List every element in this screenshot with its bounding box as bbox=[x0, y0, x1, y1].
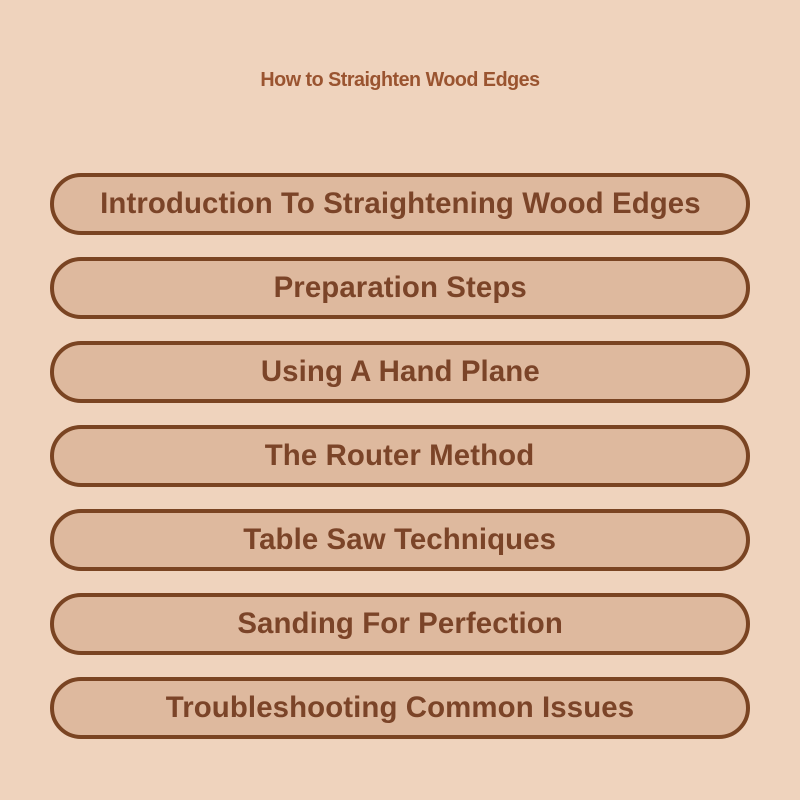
topic-pill-introduction-to-straightening-wood-edges[interactable]: Introduction To Straightening Wood Edges bbox=[50, 173, 750, 235]
topic-pill-label: Preparation Steps bbox=[273, 271, 526, 305]
topic-pill-label: Troubleshooting Common Issues bbox=[166, 691, 634, 725]
topic-pill-label: Introduction To Straightening Wood Edges bbox=[100, 187, 701, 221]
page-title: How to Straighten Wood Edges bbox=[6, 49, 794, 111]
topic-pill-sanding-for-perfection[interactable]: Sanding For Perfection bbox=[50, 593, 750, 655]
topic-pill-using-a-hand-plane[interactable]: Using A Hand Plane bbox=[50, 341, 750, 403]
topic-pill-label: Sanding For Perfection bbox=[237, 607, 563, 641]
topic-pill-label: The Router Method bbox=[265, 439, 535, 473]
topic-pill-table-saw-techniques[interactable]: Table Saw Techniques bbox=[50, 509, 750, 571]
topic-pill-preparation-steps[interactable]: Preparation Steps bbox=[50, 257, 750, 319]
topic-pill-the-router-method[interactable]: The Router Method bbox=[50, 425, 750, 487]
topic-pill-label: Using A Hand Plane bbox=[261, 355, 540, 389]
topic-pill-label: Table Saw Techniques bbox=[244, 523, 557, 557]
topic-pill-troubleshooting-common-issues[interactable]: Troubleshooting Common Issues bbox=[50, 677, 750, 739]
topic-list: Introduction To Straightening Wood Edges… bbox=[50, 173, 750, 739]
infographic-canvas: How to Straighten Wood Edges Introductio… bbox=[0, 0, 800, 800]
